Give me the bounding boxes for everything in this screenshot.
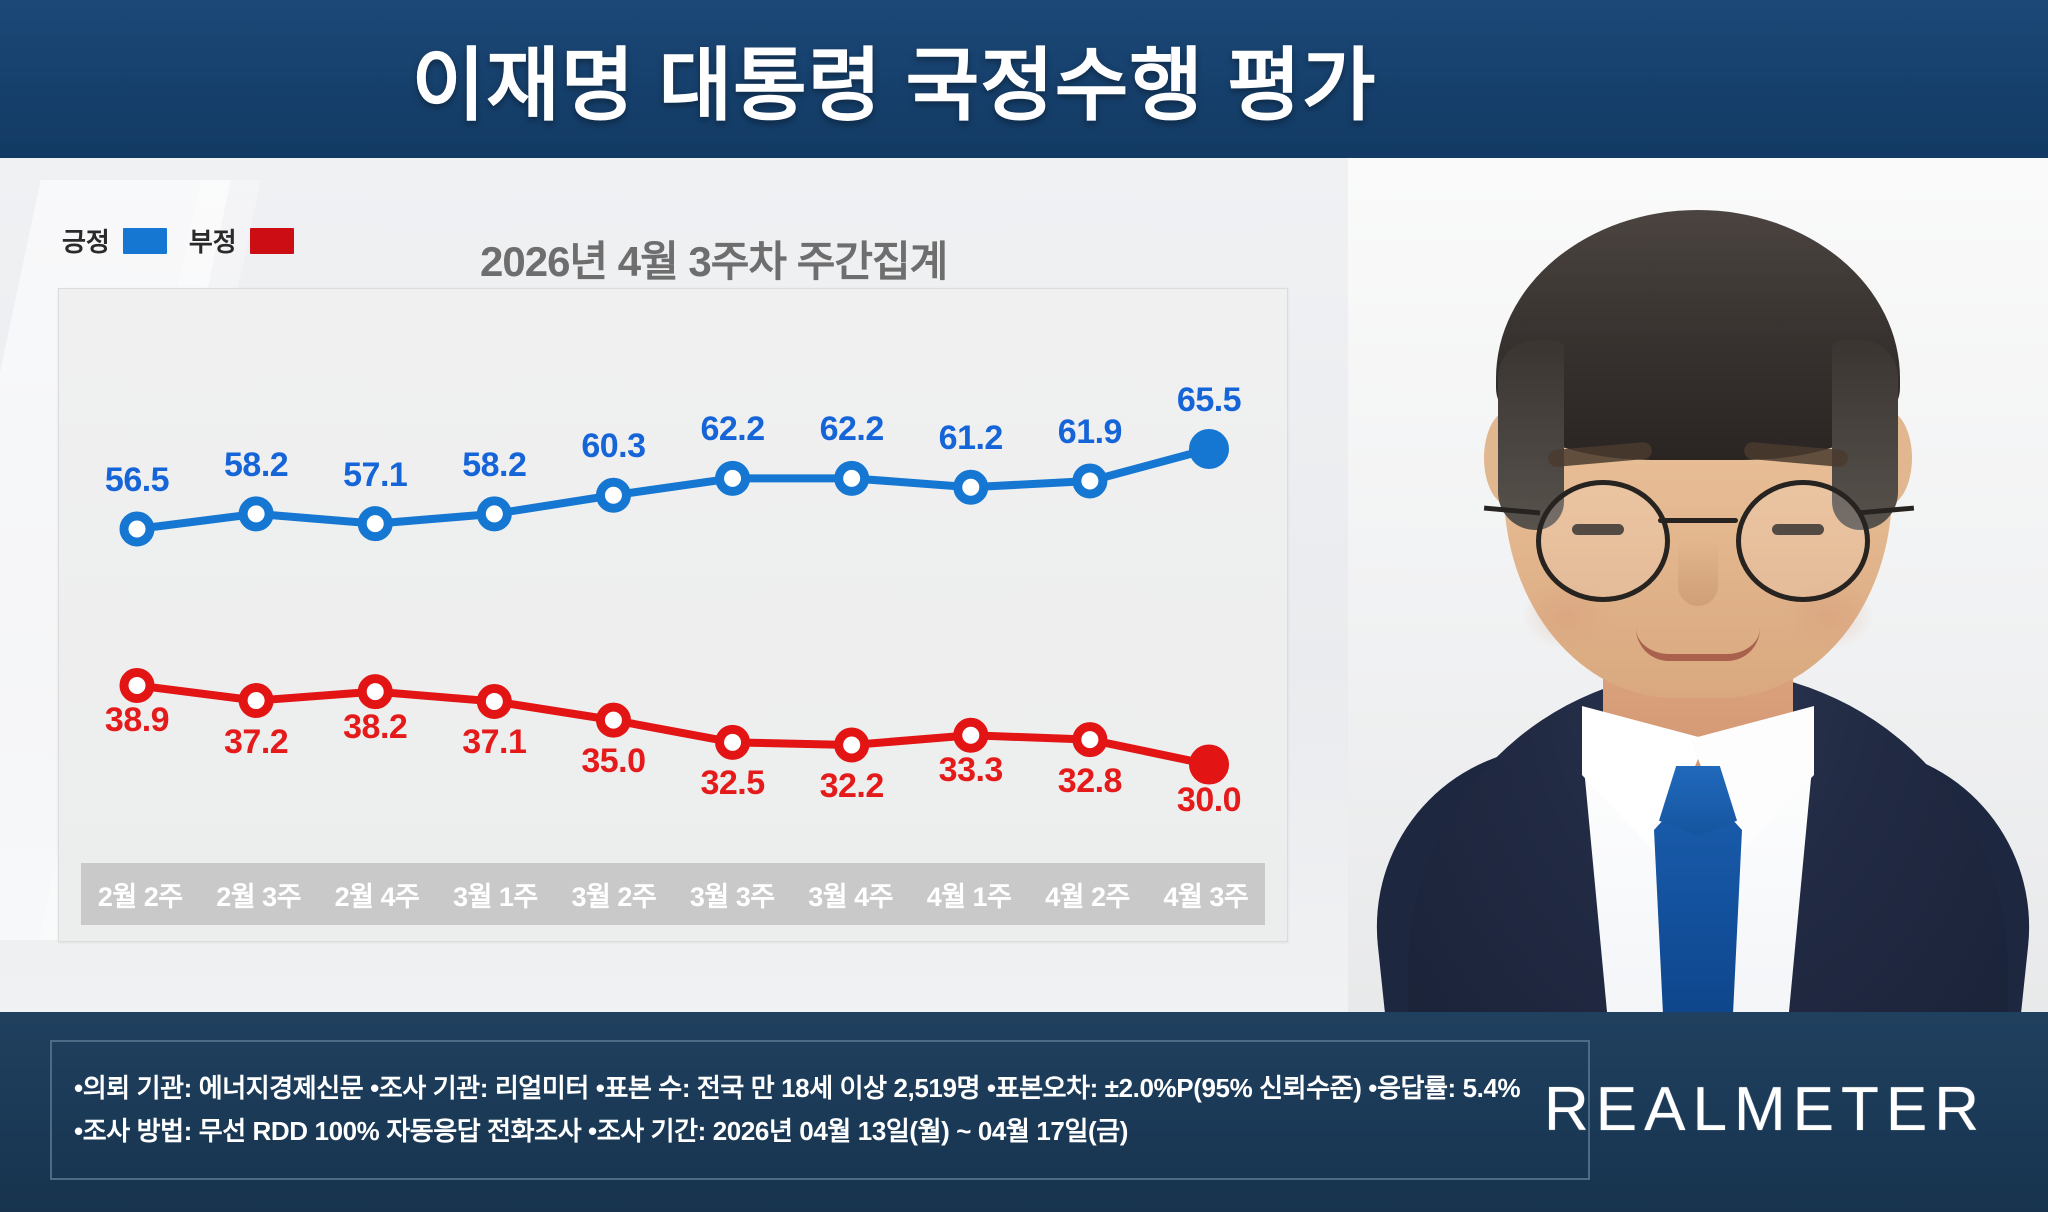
- x-axis-tick-label: 2월 3주: [199, 875, 317, 914]
- methodology-line-2: •조사 방법: 무선 RDD 100% 자동응답 전화조사 •조사 기간: 20…: [74, 1110, 1566, 1153]
- x-axis-tick-label: 2월 4주: [318, 875, 436, 914]
- data-point: [720, 465, 746, 491]
- x-axis-tick-label: 3월 1주: [436, 875, 554, 914]
- data-label: 57.1: [343, 456, 407, 495]
- x-axis-tick-label: 4월 3주: [1147, 875, 1265, 914]
- president-portrait: [1348, 110, 2048, 1015]
- series-line-긍정: [137, 449, 1209, 529]
- portrait-nose: [1678, 540, 1718, 606]
- data-label: 65.5: [1177, 381, 1241, 420]
- x-axis-tick-label: 3월 2주: [555, 875, 673, 914]
- data-label: 37.1: [462, 723, 526, 762]
- chart-plot-area: 56.558.257.158.260.362.262.261.261.965.5…: [59, 289, 1287, 864]
- data-label: 62.2: [700, 410, 764, 449]
- data-point: [1192, 748, 1226, 782]
- data-point: [362, 679, 388, 705]
- data-point: [362, 511, 388, 537]
- data-point: [124, 516, 150, 542]
- data-point: [600, 482, 626, 508]
- data-point: [839, 732, 865, 758]
- x-axis-tick-label: 2월 2주: [81, 875, 199, 914]
- x-axis-tick-label: 4월 1주: [910, 875, 1028, 914]
- chart-subtitle: 2026년 4월 3주차 주간집계: [480, 228, 947, 289]
- data-label: 58.2: [462, 446, 526, 485]
- data-point: [243, 688, 269, 714]
- data-label: 37.2: [224, 723, 288, 762]
- data-point: [600, 707, 626, 733]
- poll-infographic: 이재명 대통령 국정수행 평가 긍정 부정 2026년 4월 3주차 주간집계 …: [0, 0, 2048, 1212]
- data-label: 60.3: [581, 427, 645, 466]
- data-label: 30.0: [1177, 781, 1241, 820]
- data-label: 56.5: [105, 461, 169, 500]
- data-label: 38.2: [343, 708, 407, 747]
- data-point: [1077, 468, 1103, 494]
- data-point: [124, 672, 150, 698]
- legend-label-positive: 긍정: [62, 222, 110, 259]
- x-axis-band: 2월 2주2월 3주2월 4주3월 1주3월 2주3월 3주3월 4주4월 1주…: [81, 863, 1265, 925]
- data-label: 32.2: [820, 767, 884, 806]
- data-point: [839, 465, 865, 491]
- legend-swatch-negative: [250, 228, 294, 254]
- data-point: [243, 501, 269, 527]
- chart-panel: 56.558.257.158.260.362.262.261.261.965.5…: [58, 288, 1288, 942]
- page-title: 이재명 대통령 국정수행 평가: [412, 21, 1377, 137]
- methodology-line-1: •의뢰 기관: 에너지경제신문 •조사 기관: 리얼미터 •표본 수: 전국 만…: [74, 1067, 1566, 1110]
- data-label: 38.9: [105, 701, 169, 740]
- data-point: [481, 688, 507, 714]
- data-label: 32.5: [700, 764, 764, 803]
- data-label: 62.2: [820, 410, 884, 449]
- x-axis-tick-label: 3월 4주: [791, 875, 909, 914]
- portrait-mouth: [1636, 628, 1760, 661]
- data-point: [720, 729, 746, 755]
- data-point: [958, 722, 984, 748]
- legend-item-negative: 부정: [189, 222, 294, 259]
- data-point: [958, 474, 984, 500]
- data-label: 61.2: [939, 419, 1003, 458]
- data-label: 33.3: [939, 751, 1003, 790]
- data-label: 35.0: [581, 742, 645, 781]
- data-point: [1077, 727, 1103, 753]
- data-label: 61.9: [1058, 413, 1122, 452]
- x-axis-tick-label: 4월 2주: [1028, 875, 1146, 914]
- data-point: [1192, 432, 1226, 466]
- header-banner: 이재명 대통령 국정수행 평가: [0, 0, 2048, 158]
- glasses-lens-left-icon: [1536, 480, 1670, 602]
- glasses-lens-right-icon: [1736, 480, 1870, 602]
- legend-item-positive: 긍정: [62, 222, 167, 259]
- footer-bar: •의뢰 기관: 에너지경제신문 •조사 기관: 리얼미터 •표본 수: 전국 만…: [0, 1012, 2048, 1212]
- data-label: 32.8: [1058, 762, 1122, 801]
- realmeter-logo: REALMETER: [1544, 1074, 1986, 1145]
- series-line-부정: [137, 685, 1209, 764]
- x-axis-tick-label: 3월 3주: [673, 875, 791, 914]
- chart-legend: 긍정 부정: [62, 222, 294, 259]
- data-point: [481, 501, 507, 527]
- methodology-box: •의뢰 기관: 에너지경제신문 •조사 기관: 리얼미터 •표본 수: 전국 만…: [50, 1040, 1590, 1180]
- data-label: 58.2: [224, 446, 288, 485]
- legend-swatch-positive: [123, 228, 167, 254]
- legend-label-negative: 부정: [189, 222, 237, 259]
- glasses-bridge-icon: [1658, 518, 1738, 523]
